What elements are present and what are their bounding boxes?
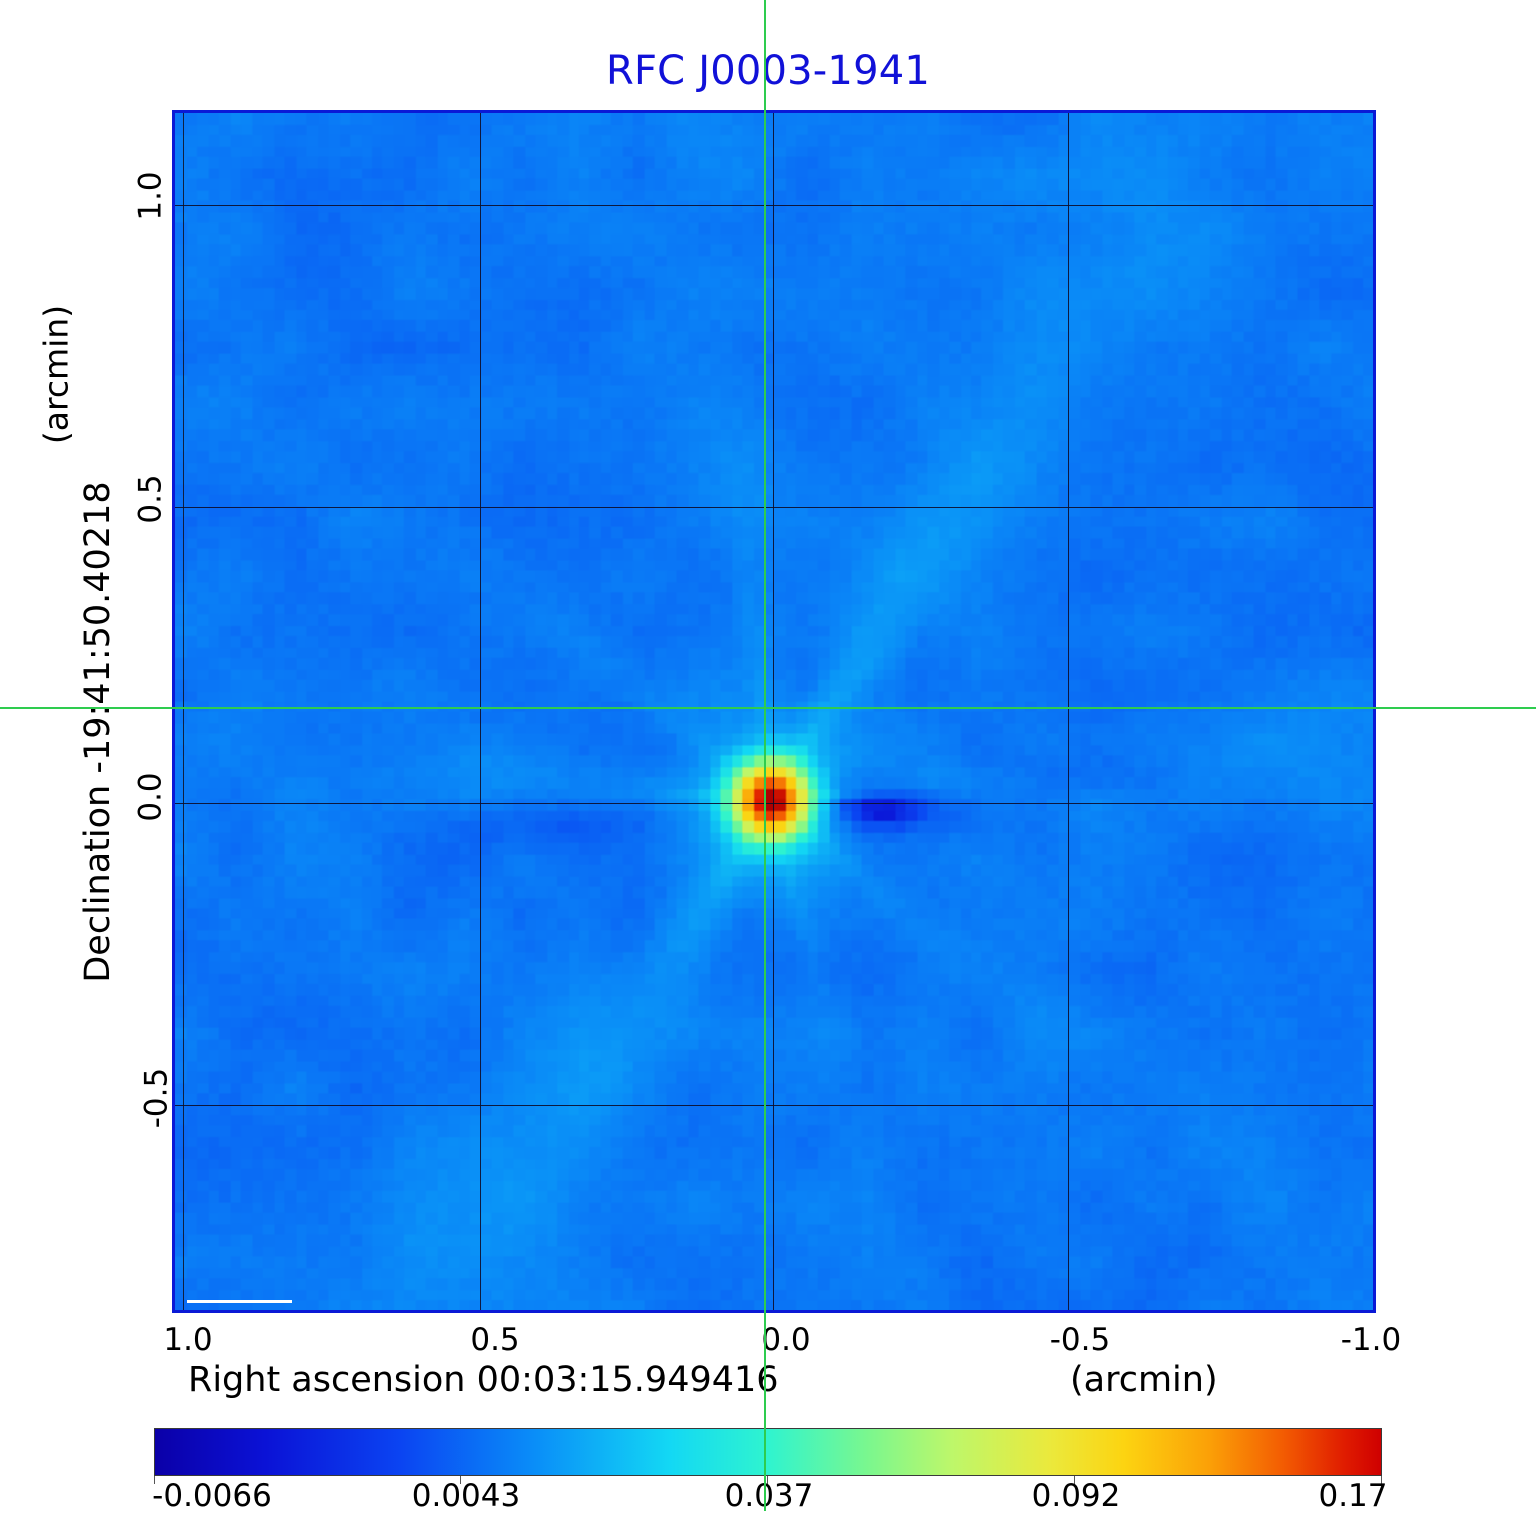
x-axis-title: Right ascension 00:03:15.949416: [188, 1360, 779, 1400]
x-tick-label-4: -1.0: [1341, 1322, 1402, 1358]
colorbar-tick-3: 0.092: [1032, 1478, 1121, 1514]
colorbar[interactable]: [154, 1428, 1382, 1476]
gridline-x-0.0: [773, 113, 774, 1310]
y-axis-unit: (arcmin): [37, 165, 76, 585]
image-plot-frame[interactable]: [172, 110, 1376, 1313]
colorbar-tick-0: -0.0066: [152, 1478, 272, 1514]
y-tick-label-2: 0.0: [133, 772, 169, 821]
x-tick-label-3: -0.5: [1050, 1322, 1111, 1358]
gridline-y-0.5: [175, 507, 1373, 508]
colorbar-tick-2: 0.037: [725, 1478, 814, 1514]
scale-bar: [187, 1300, 292, 1303]
gridline-x-0.5: [480, 113, 481, 1310]
radio-image-heatmap[interactable]: [175, 113, 1373, 1310]
crosshair-vertical-line: [764, 0, 766, 1511]
gridline-y-minus0.5: [175, 1105, 1373, 1106]
gridline-y-1.0: [175, 205, 1373, 206]
x-tick-label-0: 1.0: [163, 1322, 212, 1358]
axis-inner-rule: [183, 113, 184, 1310]
x-tick-label-1: 0.5: [470, 1322, 519, 1358]
x-tick-label-2: 0.0: [761, 1322, 810, 1358]
crosshair-horizontal-line: [0, 707, 1536, 709]
colorbar-gradient[interactable]: [154, 1428, 1382, 1476]
colorbar-tick-1: 0.0043: [412, 1478, 520, 1514]
colorbar-tick-4: 0.17: [1318, 1478, 1387, 1514]
y-tick-label-0: 1.0: [133, 171, 169, 220]
gridline-x-minus0.5: [1068, 113, 1069, 1310]
page-title: RFC J0003-1941: [0, 48, 1536, 94]
x-axis-unit: (arcmin): [1070, 1360, 1218, 1400]
y-tick-label-3: -0.5: [138, 1068, 174, 1129]
y-tick-label-1: 0.5: [133, 474, 169, 523]
y-axis-title: Declination -19:41:50.40218: [78, 382, 118, 1082]
gridline-y-0.0: [175, 803, 1373, 804]
